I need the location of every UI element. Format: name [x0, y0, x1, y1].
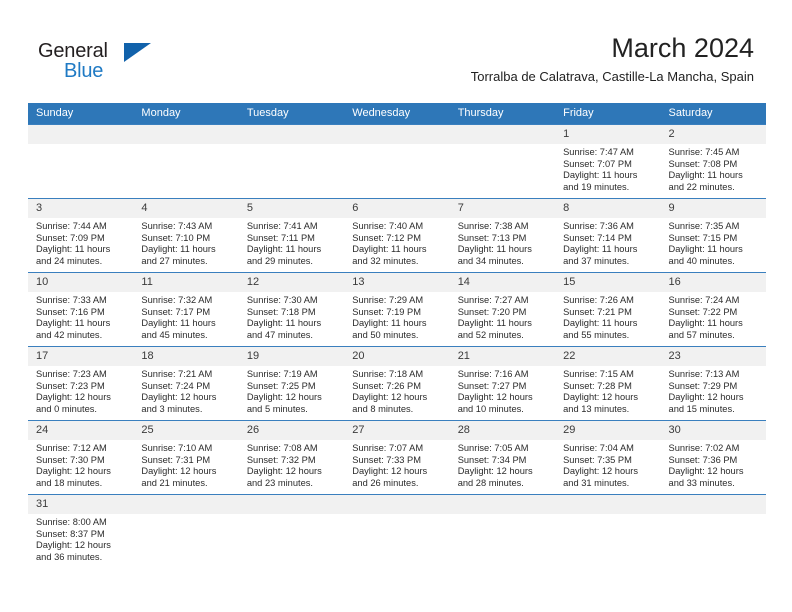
day-cell[interactable]	[344, 144, 449, 198]
daylight-text-line2: and 13 minutes.	[563, 404, 654, 416]
sunrise-text: Sunrise: 8:00 AM	[36, 517, 127, 529]
daylight-text-line2: and 3 minutes.	[141, 404, 232, 416]
day-number[interactable]: 12	[239, 273, 344, 292]
week-date-band: 31	[28, 495, 766, 514]
daylight-text-line2: and 5 minutes.	[247, 404, 338, 416]
sunrise-text: Sunrise: 7:16 AM	[458, 369, 549, 381]
day-number[interactable]	[239, 125, 344, 144]
daylight-text-line2: and 42 minutes.	[36, 330, 127, 342]
sunrise-text: Sunrise: 7:24 AM	[669, 295, 760, 307]
day-number[interactable]: 23	[661, 347, 766, 366]
sunset-text: Sunset: 7:21 PM	[563, 307, 654, 319]
sunset-text: Sunset: 7:16 PM	[36, 307, 127, 319]
sunrise-text: Sunrise: 7:18 AM	[352, 369, 443, 381]
calendar-week-row: 24 25 26 27 28 29 30 Sunrise: 7:12 AM Su…	[28, 420, 766, 494]
day-number[interactable]: 24	[28, 421, 133, 440]
day-cell[interactable]: Sunrise: 7:04 AM Sunset: 7:35 PM Dayligh…	[555, 440, 660, 494]
week-body: Sunrise: 7:33 AM Sunset: 7:16 PM Dayligh…	[28, 292, 766, 346]
day-number[interactable]: 28	[450, 421, 555, 440]
day-number[interactable]	[450, 495, 555, 514]
daylight-text-line1: Daylight: 11 hours	[669, 244, 760, 256]
sunset-text: Sunset: 7:15 PM	[669, 233, 760, 245]
sunset-text: Sunset: 7:24 PM	[141, 381, 232, 393]
day-cell[interactable]	[661, 514, 766, 576]
weekday-wednesday: Wednesday	[344, 103, 449, 124]
sunset-text: Sunset: 7:25 PM	[247, 381, 338, 393]
day-number[interactable]: 29	[555, 421, 660, 440]
day-cell[interactable]: Sunrise: 7:45 AM Sunset: 7:08 PM Dayligh…	[661, 144, 766, 198]
day-number[interactable]: 3	[28, 199, 133, 218]
day-number[interactable]: 22	[555, 347, 660, 366]
day-cell[interactable]: Sunrise: 7:32 AM Sunset: 7:17 PM Dayligh…	[133, 292, 238, 346]
calendar-week-row: 31 Sunrise: 8:00 AM Sunset: 8:37 PM Dayl…	[28, 494, 766, 576]
daylight-text-line1: Daylight: 12 hours	[141, 392, 232, 404]
day-number[interactable]: 20	[344, 347, 449, 366]
sunset-text: Sunset: 7:33 PM	[352, 455, 443, 467]
weekday-monday: Monday	[133, 103, 238, 124]
daylight-text-line2: and 22 minutes.	[669, 182, 760, 194]
day-cell[interactable]	[344, 514, 449, 576]
daylight-text-line1: Daylight: 11 hours	[36, 244, 127, 256]
day-number[interactable]: 21	[450, 347, 555, 366]
sunset-text: Sunset: 7:22 PM	[669, 307, 760, 319]
sunrise-text: Sunrise: 7:04 AM	[563, 443, 654, 455]
day-cell[interactable]	[450, 514, 555, 576]
sunset-text: Sunset: 7:09 PM	[36, 233, 127, 245]
day-cell[interactable]: Sunrise: 7:30 AM Sunset: 7:18 PM Dayligh…	[239, 292, 344, 346]
daylight-text-line1: Daylight: 12 hours	[669, 392, 760, 404]
day-cell[interactable]: Sunrise: 7:23 AM Sunset: 7:23 PM Dayligh…	[28, 366, 133, 420]
sunset-text: Sunset: 7:36 PM	[669, 455, 760, 467]
daylight-text-line1: Daylight: 11 hours	[563, 170, 654, 182]
sunrise-text: Sunrise: 7:02 AM	[669, 443, 760, 455]
day-cell[interactable]: Sunrise: 7:24 AM Sunset: 7:22 PM Dayligh…	[661, 292, 766, 346]
day-number[interactable]	[133, 495, 238, 514]
sunrise-text: Sunrise: 7:35 AM	[669, 221, 760, 233]
daylight-text-line1: Daylight: 11 hours	[352, 318, 443, 330]
page-subtitle: Torralba de Calatrava, Castille-La Manch…	[471, 69, 754, 85]
day-number[interactable]: 17	[28, 347, 133, 366]
daylight-text-line2: and 57 minutes.	[669, 330, 760, 342]
sunset-text: Sunset: 7:28 PM	[563, 381, 654, 393]
daylight-text-line2: and 21 minutes.	[141, 478, 232, 490]
daylight-text-line2: and 37 minutes.	[563, 256, 654, 268]
sunset-text: Sunset: 7:27 PM	[458, 381, 549, 393]
day-number[interactable]	[344, 125, 449, 144]
day-number[interactable]: 8	[555, 199, 660, 218]
sunrise-text: Sunrise: 7:32 AM	[141, 295, 232, 307]
day-cell[interactable]	[28, 144, 133, 198]
day-number[interactable]: 15	[555, 273, 660, 292]
sunrise-text: Sunrise: 7:29 AM	[352, 295, 443, 307]
sunset-text: Sunset: 7:07 PM	[563, 159, 654, 171]
calendar-week-row: 1 2	[28, 124, 766, 198]
day-cell[interactable]: Sunrise: 7:41 AM Sunset: 7:11 PM Dayligh…	[239, 218, 344, 272]
daylight-text-line2: and 26 minutes.	[352, 478, 443, 490]
daylight-text-line1: Daylight: 12 hours	[458, 392, 549, 404]
day-number[interactable]: 27	[344, 421, 449, 440]
sunset-text: Sunset: 7:35 PM	[563, 455, 654, 467]
day-cell[interactable]: Sunrise: 7:18 AM Sunset: 7:26 PM Dayligh…	[344, 366, 449, 420]
calendar-week-row: 17 18 19 20 21 22 23 Sunrise: 7:23 AM Su…	[28, 346, 766, 420]
day-number[interactable]	[344, 495, 449, 514]
day-cell[interactable]	[133, 144, 238, 198]
sunrise-text: Sunrise: 7:47 AM	[563, 147, 654, 159]
sunset-text: Sunset: 7:17 PM	[141, 307, 232, 319]
title-block: March 2024 Torralba de Calatrava, Castil…	[471, 32, 754, 85]
daylight-text-line1: Daylight: 11 hours	[563, 318, 654, 330]
daylight-text-line2: and 32 minutes.	[352, 256, 443, 268]
sunset-text: Sunset: 7:20 PM	[458, 307, 549, 319]
day-number[interactable]: 18	[133, 347, 238, 366]
day-number[interactable]: 4	[133, 199, 238, 218]
sunrise-text: Sunrise: 7:36 AM	[563, 221, 654, 233]
day-cell[interactable]: Sunrise: 7:33 AM Sunset: 7:16 PM Dayligh…	[28, 292, 133, 346]
sunset-text: Sunset: 7:13 PM	[458, 233, 549, 245]
day-cell[interactable]: Sunrise: 7:13 AM Sunset: 7:29 PM Dayligh…	[661, 366, 766, 420]
sunset-text: Sunset: 7:11 PM	[247, 233, 338, 245]
sunrise-text: Sunrise: 7:30 AM	[247, 295, 338, 307]
day-number[interactable]: 1	[555, 125, 660, 144]
sunrise-text: Sunrise: 7:40 AM	[352, 221, 443, 233]
day-number[interactable]	[450, 125, 555, 144]
day-number[interactable]	[555, 495, 660, 514]
day-cell[interactable]: Sunrise: 7:16 AM Sunset: 7:27 PM Dayligh…	[450, 366, 555, 420]
sunset-text: Sunset: 7:23 PM	[36, 381, 127, 393]
day-cell[interactable]: Sunrise: 7:47 AM Sunset: 7:07 PM Dayligh…	[555, 144, 660, 198]
day-cell[interactable]: Sunrise: 7:35 AM Sunset: 7:15 PM Dayligh…	[661, 218, 766, 272]
week-date-band: 24 25 26 27 28 29 30	[28, 421, 766, 440]
week-body: Sunrise: 7:47 AM Sunset: 7:07 PM Dayligh…	[28, 144, 766, 198]
day-number[interactable]: 10	[28, 273, 133, 292]
daylight-text-line2: and 45 minutes.	[141, 330, 232, 342]
daylight-text-line2: and 8 minutes.	[352, 404, 443, 416]
daylight-text-line1: Daylight: 11 hours	[36, 318, 127, 330]
daylight-text-line1: Daylight: 12 hours	[36, 466, 127, 478]
daylight-text-line1: Daylight: 11 hours	[669, 170, 760, 182]
daylight-text-line2: and 18 minutes.	[36, 478, 127, 490]
daylight-text-line2: and 24 minutes.	[36, 256, 127, 268]
daylight-text-line2: and 40 minutes.	[669, 256, 760, 268]
daylight-text-line1: Daylight: 11 hours	[352, 244, 443, 256]
calendar-week-row: 10 11 12 13 14 15 16 Sunrise: 7:33 AM Su…	[28, 272, 766, 346]
sunset-text: Sunset: 8:37 PM	[36, 529, 127, 541]
day-number[interactable]: 2	[661, 125, 766, 144]
sunset-text: Sunset: 7:10 PM	[141, 233, 232, 245]
day-cell[interactable]: Sunrise: 7:05 AM Sunset: 7:34 PM Dayligh…	[450, 440, 555, 494]
week-body: Sunrise: 7:12 AM Sunset: 7:30 PM Dayligh…	[28, 440, 766, 494]
day-cell[interactable]	[239, 144, 344, 198]
daylight-text-line2: and 29 minutes.	[247, 256, 338, 268]
daylight-text-line1: Daylight: 12 hours	[36, 540, 127, 552]
day-cell[interactable]: Sunrise: 7:07 AM Sunset: 7:33 PM Dayligh…	[344, 440, 449, 494]
daylight-text-line1: Daylight: 11 hours	[458, 244, 549, 256]
day-number[interactable]: 26	[239, 421, 344, 440]
sunrise-text: Sunrise: 7:43 AM	[141, 221, 232, 233]
day-number[interactable]	[239, 495, 344, 514]
day-cell[interactable]	[133, 514, 238, 576]
day-cell[interactable]: Sunrise: 7:10 AM Sunset: 7:31 PM Dayligh…	[133, 440, 238, 494]
sunrise-text: Sunrise: 7:27 AM	[458, 295, 549, 307]
sunset-text: Sunset: 7:29 PM	[669, 381, 760, 393]
day-cell[interactable]: Sunrise: 7:26 AM Sunset: 7:21 PM Dayligh…	[555, 292, 660, 346]
day-number[interactable]: 7	[450, 199, 555, 218]
weekday-header-row: Sunday Monday Tuesday Wednesday Thursday…	[28, 103, 766, 124]
week-body: Sunrise: 7:23 AM Sunset: 7:23 PM Dayligh…	[28, 366, 766, 420]
sunrise-text: Sunrise: 7:08 AM	[247, 443, 338, 455]
sunrise-text: Sunrise: 7:44 AM	[36, 221, 127, 233]
sunrise-text: Sunrise: 7:33 AM	[36, 295, 127, 307]
sunrise-text: Sunrise: 7:45 AM	[669, 147, 760, 159]
day-number[interactable]: 11	[133, 273, 238, 292]
week-body: Sunrise: 8:00 AM Sunset: 8:37 PM Dayligh…	[28, 514, 766, 576]
daylight-text-line2: and 47 minutes.	[247, 330, 338, 342]
day-cell[interactable]	[239, 514, 344, 576]
sunset-text: Sunset: 7:34 PM	[458, 455, 549, 467]
day-number[interactable]	[28, 125, 133, 144]
day-cell[interactable]: Sunrise: 7:02 AM Sunset: 7:36 PM Dayligh…	[661, 440, 766, 494]
daylight-text-line1: Daylight: 12 hours	[669, 466, 760, 478]
daylight-text-line2: and 19 minutes.	[563, 182, 654, 194]
daylight-text-line2: and 28 minutes.	[458, 478, 549, 490]
calendar-page: General Blue March 2024 Torralba de Cala…	[0, 0, 792, 612]
daylight-text-line2: and 36 minutes.	[36, 552, 127, 564]
brand-triangle-icon	[124, 43, 151, 62]
day-number[interactable]: 13	[344, 273, 449, 292]
daylight-text-line1: Daylight: 11 hours	[247, 244, 338, 256]
weekday-tuesday: Tuesday	[239, 103, 344, 124]
calendar-week-row: 3 4 5 6 7 8 9 Sunrise: 7:44 AM Sunset: 7…	[28, 198, 766, 272]
daylight-text-line1: Daylight: 11 hours	[247, 318, 338, 330]
daylight-text-line1: Daylight: 12 hours	[141, 466, 232, 478]
sunrise-text: Sunrise: 7:15 AM	[563, 369, 654, 381]
sunset-text: Sunset: 7:18 PM	[247, 307, 338, 319]
sunrise-text: Sunrise: 7:23 AM	[36, 369, 127, 381]
sunset-text: Sunset: 7:19 PM	[352, 307, 443, 319]
week-date-band: 3 4 5 6 7 8 9	[28, 199, 766, 218]
daylight-text-line2: and 15 minutes.	[669, 404, 760, 416]
sunrise-text: Sunrise: 7:26 AM	[563, 295, 654, 307]
sunset-text: Sunset: 7:31 PM	[141, 455, 232, 467]
week-body: Sunrise: 7:44 AM Sunset: 7:09 PM Dayligh…	[28, 218, 766, 272]
sunrise-text: Sunrise: 7:38 AM	[458, 221, 549, 233]
day-number[interactable]: 16	[661, 273, 766, 292]
day-cell[interactable]: Sunrise: 7:19 AM Sunset: 7:25 PM Dayligh…	[239, 366, 344, 420]
weekday-sunday: Sunday	[28, 103, 133, 124]
weekday-thursday: Thursday	[450, 103, 555, 124]
sunrise-text: Sunrise: 7:05 AM	[458, 443, 549, 455]
daylight-text-line1: Daylight: 11 hours	[458, 318, 549, 330]
day-cell[interactable]: Sunrise: 7:29 AM Sunset: 7:19 PM Dayligh…	[344, 292, 449, 346]
daylight-text-line2: and 52 minutes.	[458, 330, 549, 342]
daylight-text-line1: Daylight: 12 hours	[563, 392, 654, 404]
brand-logo[interactable]: General Blue	[38, 40, 158, 90]
day-cell[interactable]	[450, 144, 555, 198]
sunset-text: Sunset: 7:12 PM	[352, 233, 443, 245]
day-number[interactable]	[133, 125, 238, 144]
week-date-band: 1 2	[28, 125, 766, 144]
week-date-band: 10 11 12 13 14 15 16	[28, 273, 766, 292]
daylight-text-line2: and 34 minutes.	[458, 256, 549, 268]
sunset-text: Sunset: 7:30 PM	[36, 455, 127, 467]
day-cell[interactable]: Sunrise: 7:36 AM Sunset: 7:14 PM Dayligh…	[555, 218, 660, 272]
day-cell[interactable]: Sunrise: 7:21 AM Sunset: 7:24 PM Dayligh…	[133, 366, 238, 420]
daylight-text-line2: and 33 minutes.	[669, 478, 760, 490]
sunset-text: Sunset: 7:14 PM	[563, 233, 654, 245]
day-cell[interactable]: Sunrise: 7:40 AM Sunset: 7:12 PM Dayligh…	[344, 218, 449, 272]
day-cell[interactable]: Sunrise: 7:38 AM Sunset: 7:13 PM Dayligh…	[450, 218, 555, 272]
day-cell[interactable]: Sunrise: 8:00 AM Sunset: 8:37 PM Dayligh…	[28, 514, 133, 576]
day-number[interactable]: 9	[661, 199, 766, 218]
day-cell[interactable]	[555, 514, 660, 576]
sunrise-text: Sunrise: 7:41 AM	[247, 221, 338, 233]
day-number[interactable]	[661, 495, 766, 514]
daylight-text-line2: and 10 minutes.	[458, 404, 549, 416]
sunrise-text: Sunrise: 7:21 AM	[141, 369, 232, 381]
daylight-text-line2: and 55 minutes.	[563, 330, 654, 342]
day-cell[interactable]: Sunrise: 7:08 AM Sunset: 7:32 PM Dayligh…	[239, 440, 344, 494]
calendar-grid: Sunday Monday Tuesday Wednesday Thursday…	[28, 103, 766, 576]
daylight-text-line2: and 23 minutes.	[247, 478, 338, 490]
day-number[interactable]: 14	[450, 273, 555, 292]
day-cell[interactable]: Sunrise: 7:15 AM Sunset: 7:28 PM Dayligh…	[555, 366, 660, 420]
day-cell[interactable]: Sunrise: 7:43 AM Sunset: 7:10 PM Dayligh…	[133, 218, 238, 272]
page-title: March 2024	[471, 32, 754, 64]
sunrise-text: Sunrise: 7:13 AM	[669, 369, 760, 381]
daylight-text-line1: Daylight: 12 hours	[247, 466, 338, 478]
week-date-band: 17 18 19 20 21 22 23	[28, 347, 766, 366]
daylight-text-line1: Daylight: 11 hours	[563, 244, 654, 256]
page-header: General Blue March 2024 Torralba de Cala…	[0, 0, 792, 100]
sunrise-text: Sunrise: 7:12 AM	[36, 443, 127, 455]
sunrise-text: Sunrise: 7:07 AM	[352, 443, 443, 455]
day-number[interactable]: 25	[133, 421, 238, 440]
brand-name-blue: Blue	[64, 60, 103, 83]
day-number[interactable]: 31	[28, 495, 133, 514]
daylight-text-line1: Daylight: 12 hours	[563, 466, 654, 478]
day-number[interactable]: 6	[344, 199, 449, 218]
daylight-text-line2: and 50 minutes.	[352, 330, 443, 342]
daylight-text-line1: Daylight: 12 hours	[247, 392, 338, 404]
daylight-text-line2: and 0 minutes.	[36, 404, 127, 416]
daylight-text-line1: Daylight: 11 hours	[141, 318, 232, 330]
daylight-text-line1: Daylight: 11 hours	[141, 244, 232, 256]
daylight-text-line1: Daylight: 12 hours	[36, 392, 127, 404]
weekday-friday: Friday	[555, 103, 660, 124]
daylight-text-line1: Daylight: 12 hours	[352, 392, 443, 404]
daylight-text-line1: Daylight: 11 hours	[669, 318, 760, 330]
sunset-text: Sunset: 7:08 PM	[669, 159, 760, 171]
day-number[interactable]: 19	[239, 347, 344, 366]
day-cell[interactable]: Sunrise: 7:44 AM Sunset: 7:09 PM Dayligh…	[28, 218, 133, 272]
daylight-text-line1: Daylight: 12 hours	[352, 466, 443, 478]
day-number[interactable]: 5	[239, 199, 344, 218]
sunrise-text: Sunrise: 7:10 AM	[141, 443, 232, 455]
sunset-text: Sunset: 7:32 PM	[247, 455, 338, 467]
day-number[interactable]: 30	[661, 421, 766, 440]
day-cell[interactable]: Sunrise: 7:12 AM Sunset: 7:30 PM Dayligh…	[28, 440, 133, 494]
daylight-text-line2: and 27 minutes.	[141, 256, 232, 268]
weekday-saturday: Saturday	[661, 103, 766, 124]
sunrise-text: Sunrise: 7:19 AM	[247, 369, 338, 381]
sunset-text: Sunset: 7:26 PM	[352, 381, 443, 393]
daylight-text-line2: and 31 minutes.	[563, 478, 654, 490]
daylight-text-line1: Daylight: 12 hours	[458, 466, 549, 478]
day-cell[interactable]: Sunrise: 7:27 AM Sunset: 7:20 PM Dayligh…	[450, 292, 555, 346]
